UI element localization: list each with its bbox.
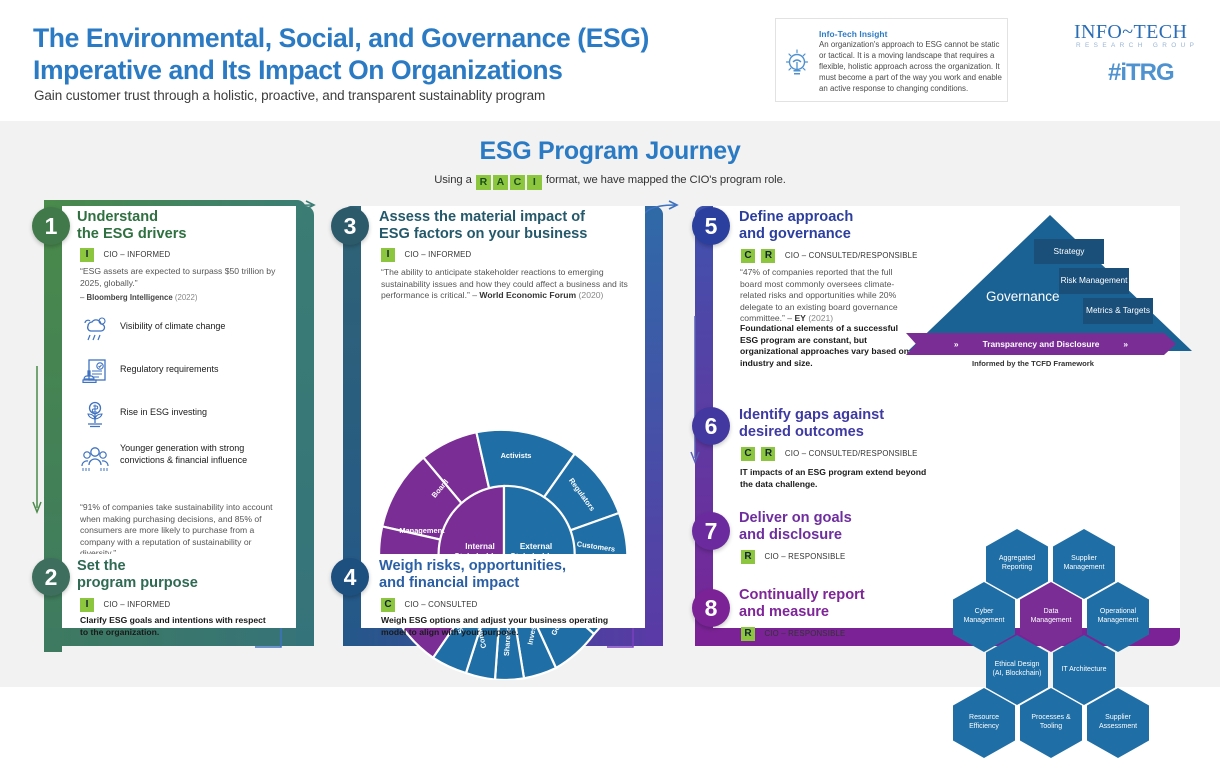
younger-generation-icon bbox=[80, 443, 110, 473]
step-5-attrib-year: (2021) bbox=[808, 313, 833, 323]
step-bubble-7[interactable]: 7 bbox=[692, 512, 730, 550]
step-7-raci: R CIO – RESPONSIBLE bbox=[741, 548, 845, 566]
step-8-raci-label: CIO – RESPONSIBLE bbox=[764, 629, 845, 638]
lightbulb-icon bbox=[782, 47, 812, 81]
step-2-title-line2: program purpose bbox=[77, 575, 292, 592]
step-6-title: Identify gaps against desired outcomes bbox=[739, 407, 959, 441]
page-header: The Environmental, Social, and Governanc… bbox=[0, 0, 1220, 121]
step-6-raci: C R CIO – CONSULTED/RESPONSIBLE bbox=[741, 445, 918, 463]
triangle-band-risk: Risk Management bbox=[1059, 268, 1129, 294]
raci-badge-r: R bbox=[761, 447, 775, 461]
driver-label-3: Rise in ESG investing bbox=[120, 407, 280, 419]
hex-label: Operational Management bbox=[1090, 608, 1146, 626]
step-5-quote: “47% of companies reported that the full… bbox=[740, 267, 908, 325]
step-4-title: Weigh risks, opportunities, and financia… bbox=[379, 558, 649, 592]
step-3-raci: I CIO – INFORMED bbox=[381, 246, 471, 264]
step-5-attrib-source: EY bbox=[794, 313, 805, 323]
step-6-title-line1: Identify gaps against bbox=[739, 407, 959, 424]
step-5-raci-label: CIO – CONSULTED/RESPONSIBLE bbox=[785, 251, 918, 260]
sunburst-label-management: Management bbox=[390, 526, 454, 535]
step-4-raci: C CIO – CONSULTED bbox=[381, 596, 478, 614]
hex-label: Resource Efficiency bbox=[956, 714, 1012, 732]
journey-subtitle: Using a RACI format, we have mapped the … bbox=[0, 174, 1220, 190]
step-3-attrib-source: World Economic Forum bbox=[479, 290, 576, 300]
step-8-title-line2: and measure bbox=[739, 604, 959, 621]
down-arrow-column-3 bbox=[688, 316, 702, 466]
step-bubble-5[interactable]: 5 bbox=[692, 207, 730, 245]
infographic-canvas: ESG Program Journey Using a RACI format,… bbox=[0, 121, 1220, 687]
driver-label-4: Younger generation with strong convictio… bbox=[120, 443, 288, 466]
step-bubble-3[interactable]: 3 bbox=[331, 207, 369, 245]
step-8-raci: R CIO – RESPONSIBLE bbox=[741, 625, 845, 643]
driver-label-1: Visibility of climate change bbox=[120, 321, 280, 333]
triangle-band-strategy: Strategy bbox=[1034, 239, 1104, 264]
raci-badge-i: I bbox=[381, 248, 395, 262]
step-3-title-line2: ESG factors on your business bbox=[379, 226, 659, 243]
step-1-attrib-source: Bloomberg Intelligence bbox=[87, 293, 173, 302]
step-7-title-line1: Deliver on goals bbox=[739, 510, 959, 527]
column-1-quote: “91% of companies take sustainability in… bbox=[80, 502, 285, 560]
info-tech-logo: INFO~TECH bbox=[1074, 21, 1187, 44]
rail-column-1-right bbox=[296, 206, 314, 646]
insight-body: An organization's approach to ESG cannot… bbox=[819, 40, 1003, 95]
chevron-right-icon: » bbox=[1123, 339, 1128, 349]
step-1-quote: “ESG assets are expected to surpass $50 … bbox=[80, 266, 280, 289]
logo-tagline: RESEARCH GROUP bbox=[1076, 42, 1198, 49]
journey-sub-pre: Using a bbox=[434, 174, 472, 186]
hex-operational-management: Operational Management bbox=[1087, 582, 1149, 652]
page-title: The Environmental, Social, and Governanc… bbox=[33, 22, 763, 87]
hex-label: Processes & Tooling bbox=[1023, 714, 1079, 732]
raci-badge-r: R bbox=[761, 249, 775, 263]
step-2-raci: I CIO – INFORMED bbox=[80, 596, 170, 614]
step-3-attrib-year: (2020) bbox=[579, 290, 604, 300]
raci-badge-c: C bbox=[741, 447, 755, 461]
transparency-label: Transparency and Disclosure bbox=[983, 339, 1100, 349]
raci-chip-c: C bbox=[510, 175, 525, 190]
transparency-disclosure-band: » Transparency and Disclosure » bbox=[906, 333, 1176, 355]
regulation-document-icon bbox=[80, 357, 110, 387]
step-bubble-2[interactable]: 2 bbox=[32, 558, 70, 596]
tcfd-caption: Informed by the TCFD Framework bbox=[888, 359, 1178, 368]
journey-title: ESG Program Journey bbox=[0, 137, 1220, 166]
sunburst-label-activists: Activists bbox=[486, 451, 546, 460]
step-7-title: Deliver on goals and disclosure bbox=[739, 510, 959, 544]
step-3-raci-label: CIO – INFORMED bbox=[404, 250, 471, 259]
step-7-title-line2: and disclosure bbox=[739, 527, 959, 544]
info-tech-insight-box: Info-Tech Insight An organization's appr… bbox=[775, 18, 1008, 102]
it-impacts-hexagon-grid: Aggregated Reporting Supplier Management… bbox=[950, 529, 1174, 755]
step-3-title-line1: Assess the material impact of bbox=[379, 209, 659, 226]
insight-label: Info-Tech Insight bbox=[819, 29, 888, 39]
esg-investing-icon bbox=[80, 400, 110, 430]
hex-label: Cyber Management bbox=[956, 608, 1012, 626]
step-bubble-1[interactable]: 1 bbox=[32, 207, 70, 245]
raci-badge-i: I bbox=[80, 248, 94, 262]
climate-change-icon bbox=[80, 314, 110, 344]
hex-label: Ethical Design (AI, Blockchain) bbox=[989, 661, 1045, 679]
step-4-title-line2: and financial impact bbox=[379, 575, 649, 592]
step-2-title-line1: Set the bbox=[77, 558, 292, 575]
step-8-title: Continually report and measure bbox=[739, 587, 959, 621]
triangle-band-metrics: Metrics & Targets bbox=[1083, 298, 1153, 324]
band-metrics-label: Metrics & Targets bbox=[1086, 306, 1150, 316]
journey-sub-post: format, we have mapped the CIO's program… bbox=[546, 174, 786, 186]
step-5-raci: C R CIO – CONSULTED/RESPONSIBLE bbox=[741, 247, 918, 265]
step-1-attrib-year: (2022) bbox=[175, 293, 198, 302]
raci-chip-i: I bbox=[527, 175, 542, 190]
raci-chip-r: R bbox=[476, 175, 491, 190]
step-2-note: Clarify ESG goals and intentions with re… bbox=[80, 615, 270, 638]
hex-label: IT Architecture bbox=[1061, 666, 1106, 675]
driver-label-2: Regulatory requirements bbox=[120, 364, 280, 376]
step-4-note: Weigh ESG options and adjust your busine… bbox=[381, 615, 611, 638]
step-5-note: Foundational elements of a successful ES… bbox=[740, 323, 912, 370]
step-1-title-line1: Understand bbox=[77, 209, 287, 226]
page-subtitle: Gain customer trust through a holistic, … bbox=[34, 88, 794, 103]
hex-supplier-assessment: Supplier Assessment bbox=[1087, 688, 1149, 758]
raci-chip-group: RACI bbox=[475, 174, 543, 186]
itrg-badge: #iTRG bbox=[1108, 59, 1174, 87]
step-4-title-line1: Weigh risks, opportunities, bbox=[379, 558, 649, 575]
band-risk-label: Risk Management bbox=[1061, 276, 1128, 286]
step-6-title-line2: desired outcomes bbox=[739, 424, 959, 441]
raci-badge-i: I bbox=[80, 598, 94, 612]
step-3-title: Assess the material impact of ESG factor… bbox=[379, 209, 659, 243]
step-8-title-line1: Continually report bbox=[739, 587, 959, 604]
step-2-title: Set the program purpose bbox=[77, 558, 292, 592]
step-bubble-6[interactable]: 6 bbox=[692, 407, 730, 445]
hex-label: Aggregated Reporting bbox=[989, 555, 1045, 573]
step-1-title: Understand the ESG drivers bbox=[77, 209, 287, 243]
hex-label: Data Management bbox=[1023, 608, 1079, 626]
raci-badge-r: R bbox=[741, 550, 755, 564]
step-3-quote: “The ability to anticipate stakeholder r… bbox=[381, 267, 629, 302]
step-4-raci-label: CIO – CONSULTED bbox=[404, 600, 477, 609]
step-7-raci-label: CIO – RESPONSIBLE bbox=[764, 552, 845, 561]
step-1-raci-label: CIO – INFORMED bbox=[103, 250, 170, 259]
step-2-raci-label: CIO – INFORMED bbox=[103, 600, 170, 609]
step-bubble-4[interactable]: 4 bbox=[331, 558, 369, 596]
raci-chip-a: A bbox=[493, 175, 508, 190]
raci-badge-c: C bbox=[381, 598, 395, 612]
raci-badge-r: R bbox=[741, 627, 755, 641]
down-arrow-column-1 bbox=[30, 366, 44, 516]
step-6-raci-label: CIO – CONSULTED/RESPONSIBLE bbox=[785, 449, 918, 458]
step-6-note: IT impacts of an ESG program extend beyo… bbox=[740, 467, 940, 490]
step-1-title-line2: the ESG drivers bbox=[77, 226, 287, 243]
step-bubble-8[interactable]: 8 bbox=[692, 589, 730, 627]
band-strategy-label: Strategy bbox=[1054, 247, 1085, 257]
step-1-raci: I CIO – INFORMED bbox=[80, 246, 170, 264]
governance-label: Governance bbox=[986, 289, 1060, 304]
logo-wordmark: INFO~TECH bbox=[1074, 21, 1187, 43]
step-1-attrib: – Bloomberg Intelligence (2022) bbox=[80, 293, 197, 302]
raci-badge-c: C bbox=[741, 249, 755, 263]
hex-label: Supplier Management bbox=[1056, 555, 1112, 573]
governance-triangle-diagram: Continual Improvement Governance Strateg… bbox=[900, 209, 1200, 369]
chevron-left-icon: » bbox=[954, 339, 959, 349]
hex-label: Supplier Assessment bbox=[1090, 714, 1146, 732]
